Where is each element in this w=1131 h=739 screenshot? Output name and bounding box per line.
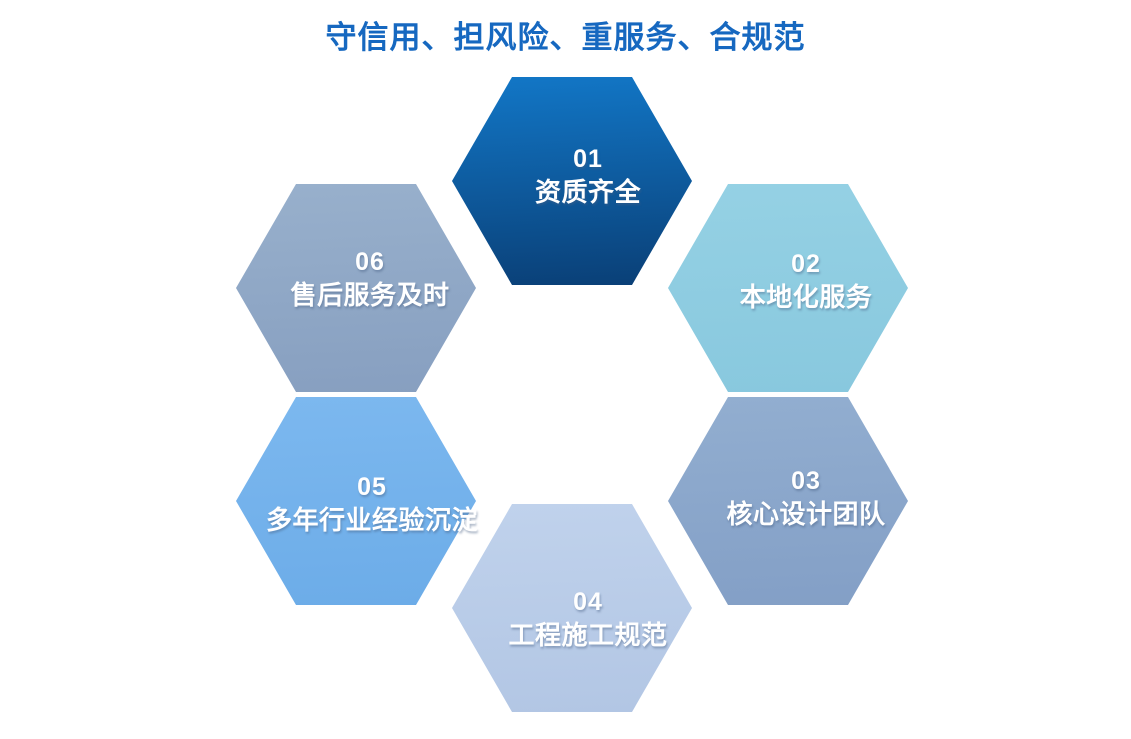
hexagon-02[interactable] xyxy=(668,184,908,392)
hexagon-diagram: 01 资质齐全 02 本地化服务 03 核心设计团队 04 工程施工规范 xyxy=(0,0,1131,739)
hexagon-06[interactable] xyxy=(236,184,476,392)
hexagon-04[interactable] xyxy=(452,504,692,712)
slide-canvas: 守信用、担风险、重服务、合规范 01 资质齐全 02 本地化服务 03 核心设计… xyxy=(0,0,1131,739)
hexagon-03[interactable] xyxy=(668,397,908,605)
hexagon-01[interactable] xyxy=(452,77,692,285)
hexagon-05[interactable] xyxy=(236,397,476,605)
